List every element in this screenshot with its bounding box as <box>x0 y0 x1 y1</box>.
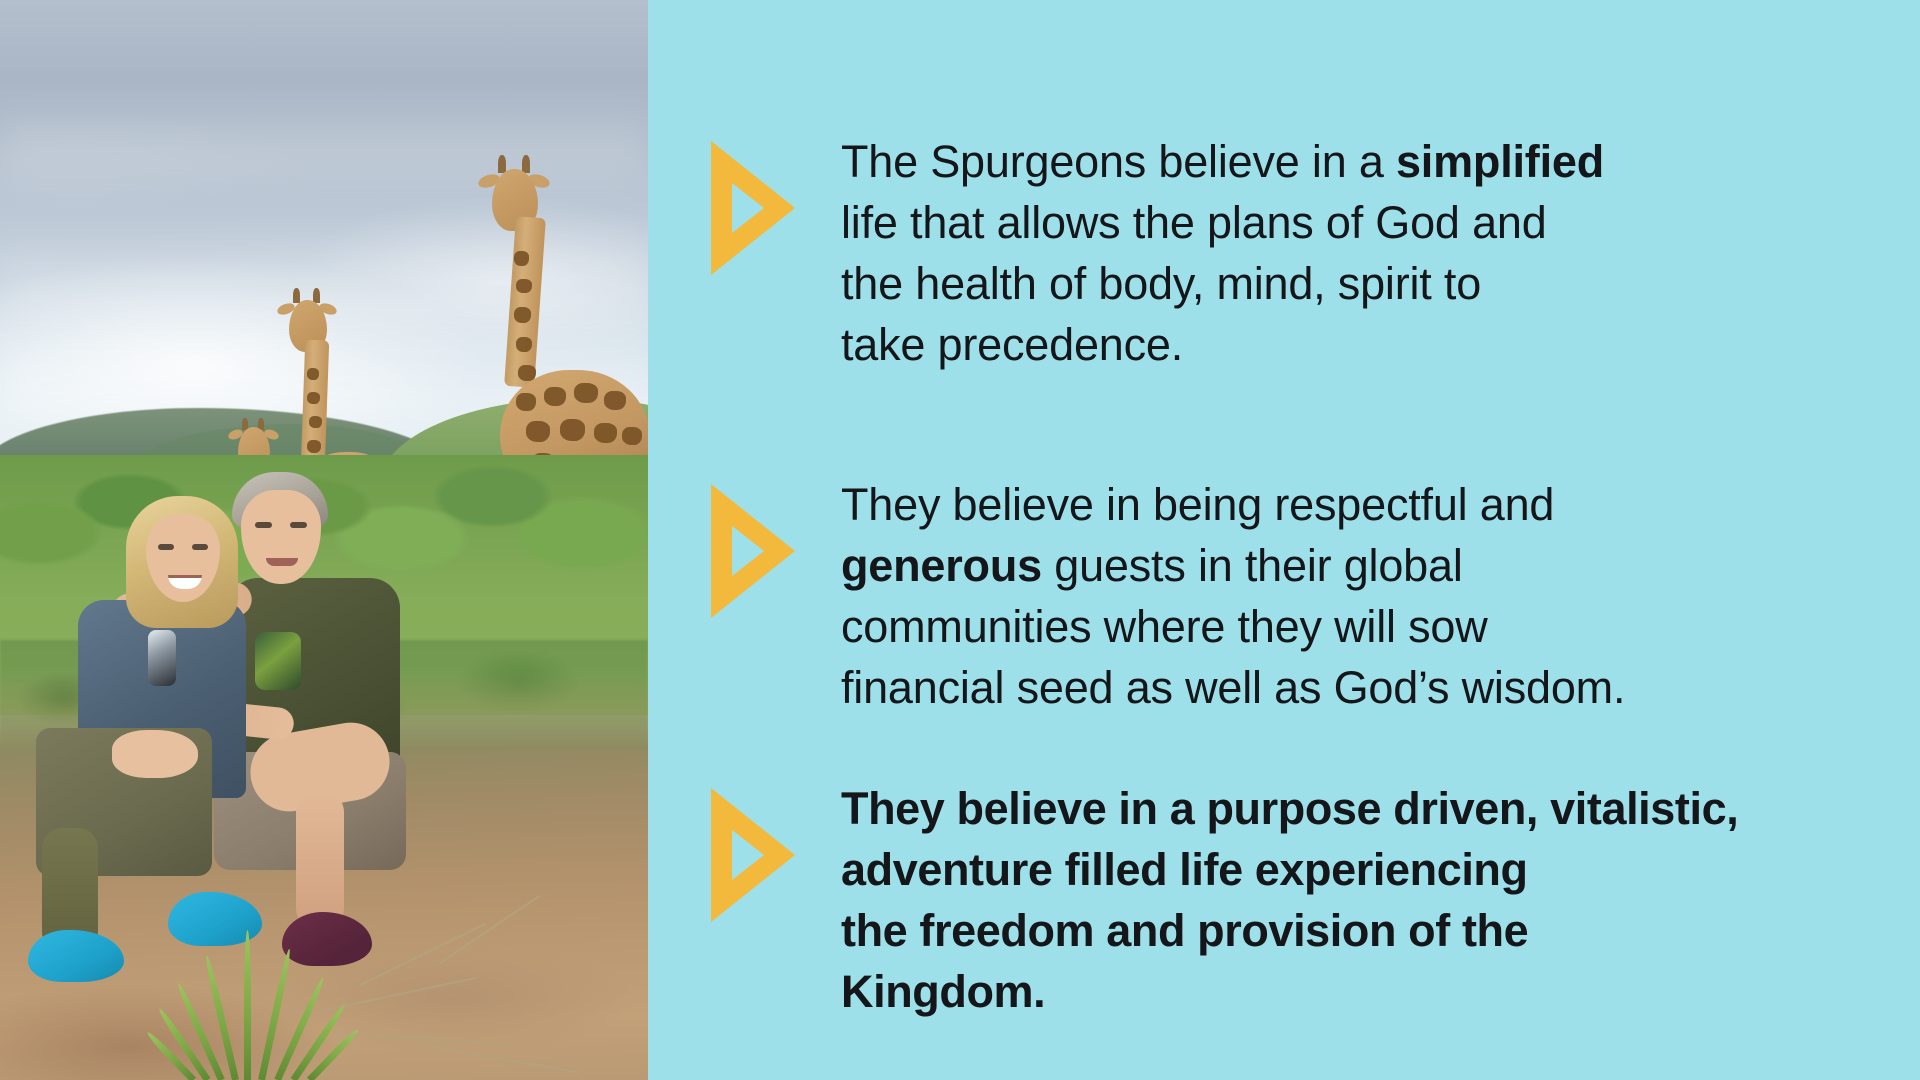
foreground-plant <box>182 900 332 1080</box>
man-mouth <box>266 558 298 566</box>
slide-canvas: A smiling couple crouching on a dirt pat… <box>0 0 1920 1080</box>
bullet-text-2: They believe in being respectful and gen… <box>841 474 1889 718</box>
bullet-item-2: They believe in being respectful and gen… <box>709 474 1889 718</box>
man-eye-left <box>255 522 272 528</box>
content-panel: The Spurgeons believe in a simplified li… <box>648 0 1920 1080</box>
man-sunglasses <box>255 632 301 690</box>
man-eye-right <box>290 522 307 528</box>
bullet-text-3: They believe in a purpose driven, vitali… <box>841 778 1889 1022</box>
dry-twigs <box>320 940 620 1060</box>
bullet-list: The Spurgeons believe in a simplified li… <box>648 0 1920 1080</box>
hero-photo: A smiling couple crouching on a dirt pat… <box>0 0 648 1080</box>
bullet-text-1: The Spurgeons believe in a simplified li… <box>841 131 1889 375</box>
bullet-item-3: They believe in a purpose driven, vitali… <box>709 778 1889 1022</box>
woman-hands <box>112 730 198 778</box>
woman-eye-left <box>158 544 174 550</box>
woman-sunglasses <box>148 630 176 686</box>
play-arrow-outline-icon <box>709 139 797 277</box>
play-arrow-outline-icon <box>709 786 797 924</box>
bullet-item-1: The Spurgeons believe in a simplified li… <box>709 131 1889 375</box>
play-arrow-outline-icon <box>709 482 797 620</box>
woman-shoe-left <box>28 930 124 982</box>
woman-eye-right <box>192 544 208 550</box>
man-face <box>241 490 321 584</box>
